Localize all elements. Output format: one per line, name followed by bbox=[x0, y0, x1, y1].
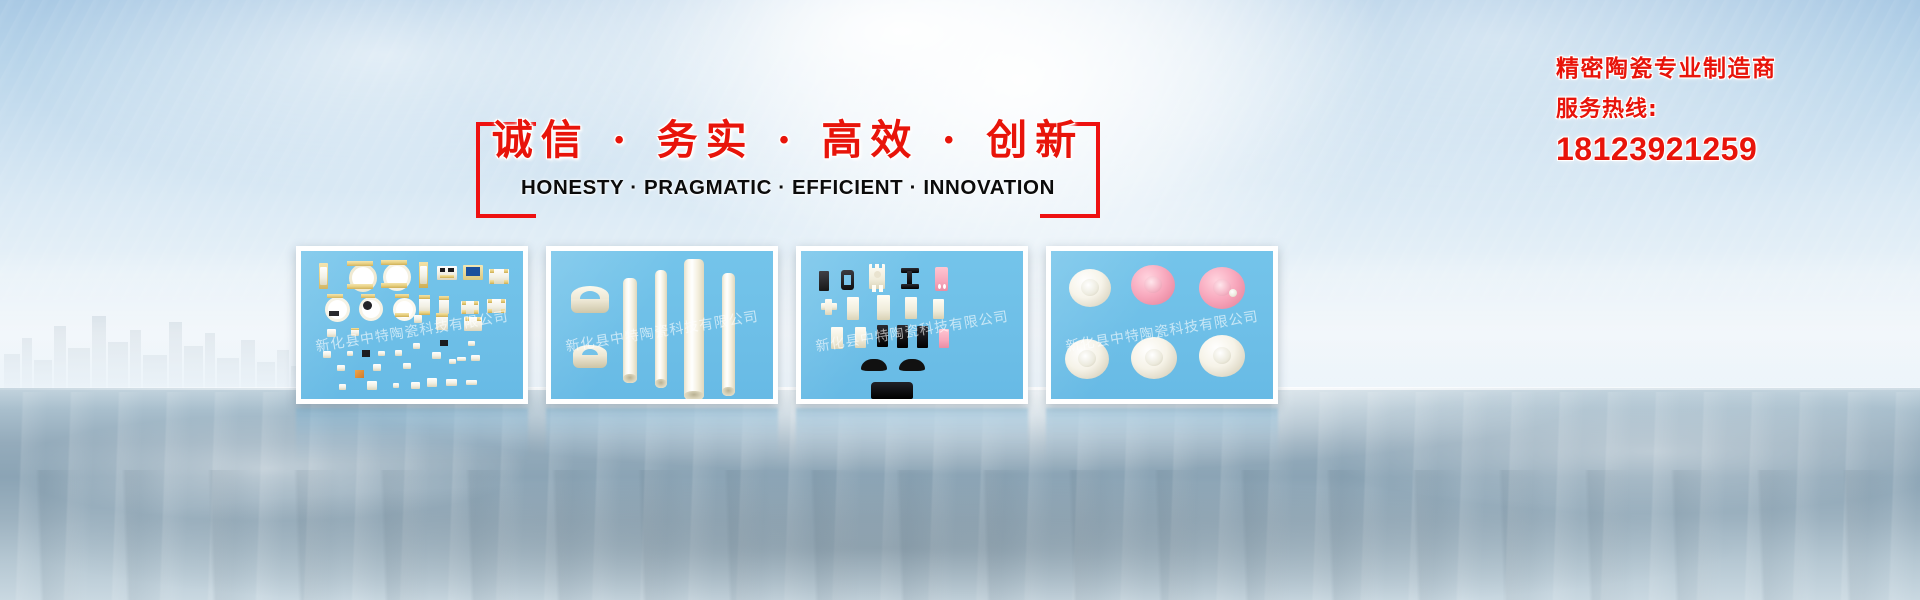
panel-reflection bbox=[796, 408, 1028, 462]
panel-glass-reflection bbox=[801, 251, 1023, 399]
product-panel-ceramic-discs[interactable]: 新化县中特陶瓷科技有限公司 bbox=[1046, 246, 1278, 404]
panel-reflection bbox=[1046, 408, 1278, 462]
company-tagline: 精密陶瓷专业制造商 bbox=[1556, 52, 1896, 86]
bracket-bottom-left-icon bbox=[476, 214, 536, 218]
ground-shadow bbox=[0, 470, 1920, 600]
hotline-label: 服务热线: bbox=[1556, 95, 1896, 125]
product-panel-smd-chips[interactable]: 新化县中特陶瓷科技有限公司 bbox=[296, 246, 528, 404]
product-panel-row: 新化县中特陶瓷科技有限公司 新化县中特陶瓷科技有限公司 bbox=[0, 246, 1920, 408]
hotline-number[interactable]: 18123921259 bbox=[1556, 129, 1896, 169]
slogan-chinese: 诚信 · 务实 · 高效 · 创新 bbox=[476, 112, 1100, 168]
product-panel-ceramic-blocks[interactable]: 新化县中特陶瓷科技有限公司 bbox=[796, 246, 1028, 404]
slogan-english: HONESTY · PRAGMATIC · EFFICIENT · INNOVA… bbox=[476, 176, 1100, 200]
panel-reflection bbox=[546, 408, 778, 462]
panel-reflection bbox=[296, 408, 528, 462]
bracket-bottom-right-icon bbox=[1040, 214, 1100, 218]
product-panel-ceramic-tubes[interactable]: 新化县中特陶瓷科技有限公司 bbox=[546, 246, 778, 404]
contact-block: 精密陶瓷专业制造商 服务热线: 18123921259 bbox=[1556, 52, 1896, 169]
hero-banner: 诚信 · 务实 · 高效 · 创新 HONESTY · PRAGMATIC · … bbox=[0, 0, 1920, 600]
slogan-block: 诚信 · 务实 · 高效 · 创新 HONESTY · PRAGMATIC · … bbox=[476, 112, 1100, 208]
